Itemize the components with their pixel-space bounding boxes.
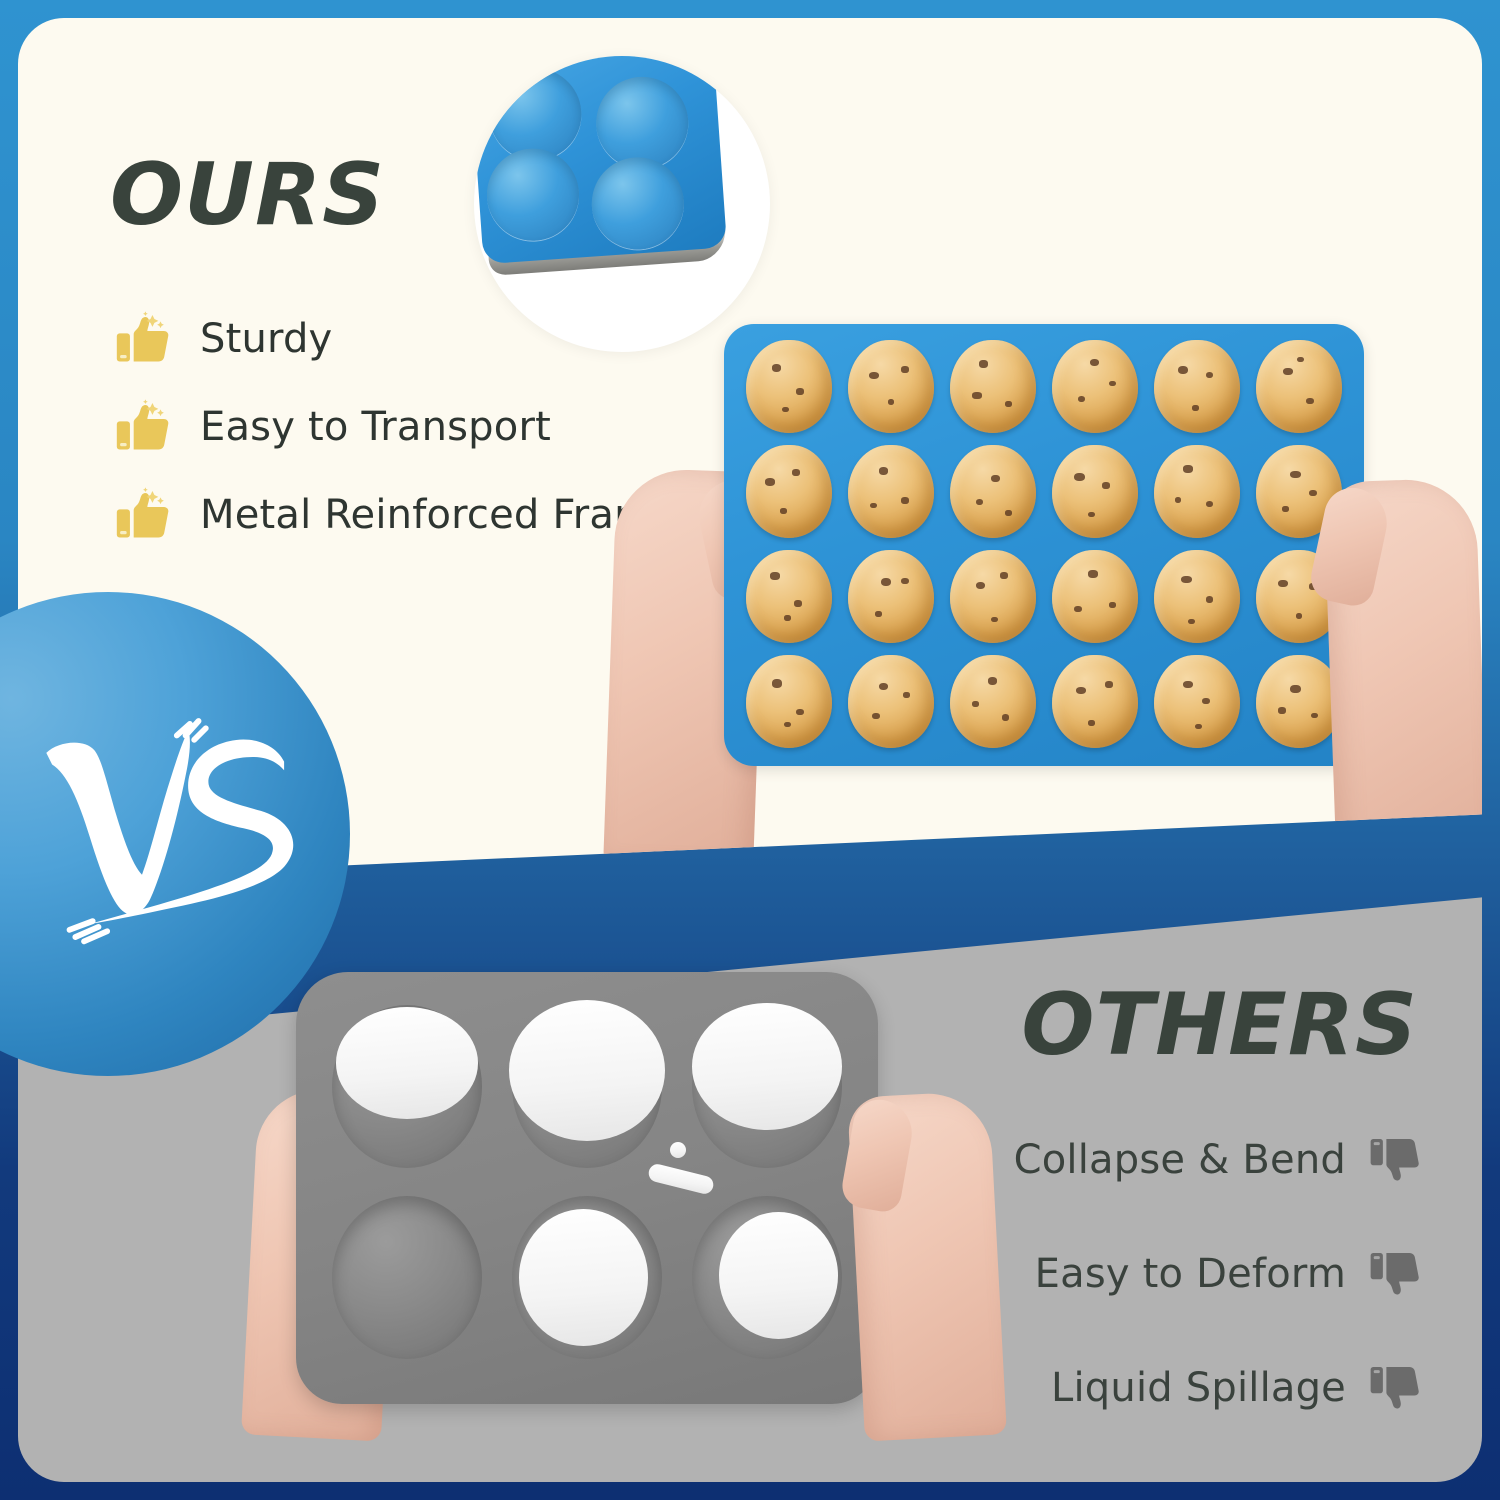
spilled-batter: [519, 1209, 648, 1347]
muffin: [950, 655, 1036, 748]
ours-feature-label: Easy to Transport: [200, 404, 551, 450]
muffin-cell: [944, 651, 1042, 752]
vs-brush-mark: [26, 692, 316, 982]
muffin-grid: [740, 336, 1348, 752]
muffin-cell: [1046, 651, 1144, 752]
blue-muffin-tray: [724, 324, 1364, 766]
mold-cell: [682, 1187, 852, 1368]
muffin-cell: [1046, 441, 1144, 542]
others-feature-label: Collapse & Bend: [1014, 1137, 1346, 1183]
muffin: [848, 445, 934, 538]
product-closeup-inset: [474, 56, 770, 352]
muffin-cell: [740, 336, 838, 437]
muffin: [746, 340, 832, 433]
muffin-cell: [740, 546, 838, 647]
muffin: [746, 445, 832, 538]
muffin-cell: [1148, 651, 1246, 752]
thumbs-down-icon: [1368, 1132, 1424, 1188]
mold-cell: [322, 1187, 492, 1368]
muffin: [848, 550, 934, 643]
mold-cell: [682, 996, 852, 1177]
others-feature-label: Easy to Deform: [1035, 1251, 1346, 1297]
muffin: [950, 340, 1036, 433]
muffin: [848, 655, 934, 748]
muffin: [1154, 340, 1240, 433]
muffin: [1154, 655, 1240, 748]
inset-muffin-pan: [474, 56, 727, 264]
muffin-cell: [842, 336, 940, 437]
others-feature-item: Liquid Spillage: [1004, 1346, 1424, 1430]
muffin: [950, 445, 1036, 538]
muffin: [746, 655, 832, 748]
muffin: [1154, 550, 1240, 643]
others-feature-list: Collapse & Bend Easy to Deform Liqui: [1004, 1118, 1424, 1460]
mold-cavity-grid: [322, 996, 852, 1368]
spilled-batter: [692, 1003, 842, 1130]
thumbs-up-icon: [114, 485, 174, 545]
muffin-cell: [1148, 546, 1246, 647]
muffin-cell: [842, 546, 940, 647]
muffin: [950, 550, 1036, 643]
muffin: [1154, 445, 1240, 538]
spilled-batter: [719, 1212, 838, 1339]
muffin-cell: [740, 441, 838, 542]
comparison-infographic: OURS Sturdy: [0, 0, 1500, 1500]
mold-cell: [322, 996, 492, 1177]
batter-droplet: [670, 1142, 686, 1158]
mold-cell: [502, 996, 672, 1177]
muffin-cell: [1046, 546, 1144, 647]
muffin: [1256, 340, 1342, 433]
muffin: [1052, 340, 1138, 433]
ours-feature-label: Metal Reinforced Frame: [200, 492, 678, 538]
others-title: OTHERS: [1021, 975, 1418, 1075]
muffin-cell: [842, 651, 940, 752]
muffin: [1052, 655, 1138, 748]
thumbs-up-icon: [114, 309, 174, 369]
muffin: [746, 550, 832, 643]
ours-title: OURS: [110, 145, 385, 245]
others-feature-item: Collapse & Bend: [1004, 1118, 1424, 1202]
mold-cell: [502, 1187, 672, 1368]
muffin-cell: [1148, 336, 1246, 437]
others-feature-label: Liquid Spillage: [1051, 1365, 1346, 1411]
ours-feature-label: Sturdy: [200, 316, 332, 362]
thumbs-down-icon: [1368, 1246, 1424, 1302]
thumbs-up-icon: [114, 397, 174, 457]
muffin-cell: [944, 336, 1042, 437]
others-feature-item: Easy to Deform: [1004, 1232, 1424, 1316]
spilled-batter: [336, 1007, 479, 1119]
muffin-cell: [1046, 336, 1144, 437]
spilled-batter: [509, 1000, 665, 1141]
muffin: [848, 340, 934, 433]
muffin: [1052, 445, 1138, 538]
muffin-cell: [944, 546, 1042, 647]
muffin-cell: [1148, 441, 1246, 542]
mold-cavity: [332, 1196, 482, 1359]
ours-feature-item: Easy to Transport: [114, 384, 734, 470]
muffin-cell: [740, 651, 838, 752]
muffin-cell: [944, 441, 1042, 542]
gray-silicone-mold: [296, 972, 878, 1404]
muffin-cell: [1250, 336, 1348, 437]
thumbs-down-icon: [1368, 1360, 1424, 1416]
muffin: [1052, 550, 1138, 643]
muffin-cell: [842, 441, 940, 542]
